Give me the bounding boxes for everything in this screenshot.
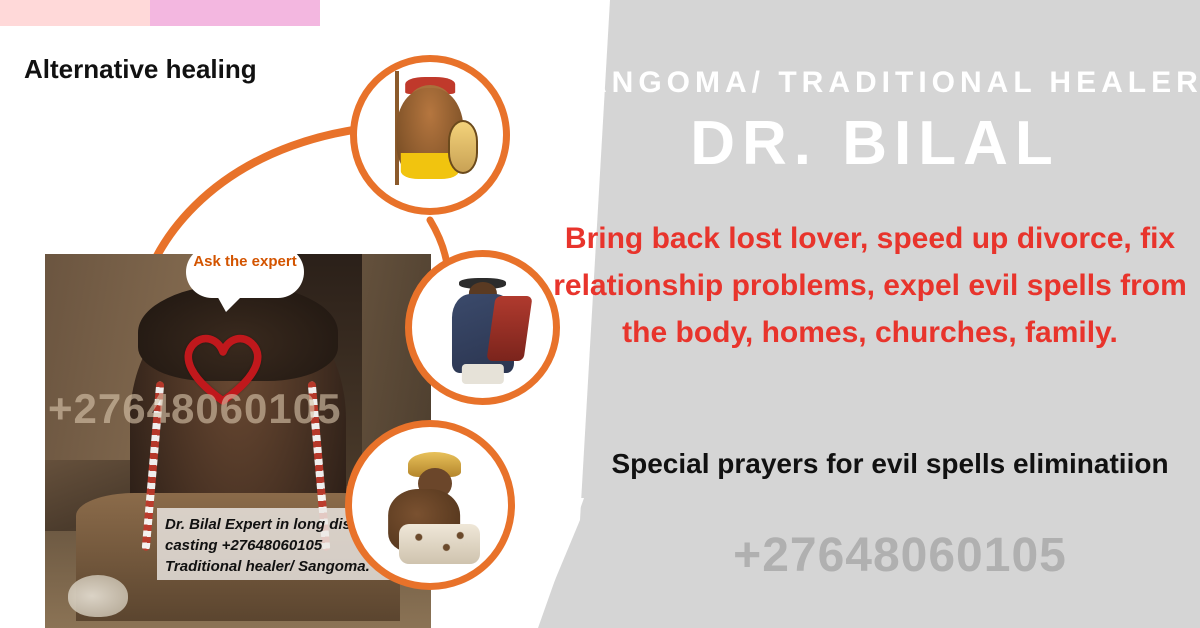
contact-phone: +27648060105 bbox=[600, 528, 1200, 583]
services-text: Bring back lost lover, speed up divorce,… bbox=[540, 215, 1200, 356]
speech-bubble-text: Ask the expert bbox=[186, 252, 304, 271]
photo-chicken bbox=[68, 575, 128, 617]
bubble-traditional-figure-illustration bbox=[405, 250, 560, 405]
top-bar-segment-pink-light bbox=[0, 0, 150, 26]
bubble-zulu-warrior-illustration bbox=[350, 55, 510, 215]
poster-title: DR. BILAL bbox=[560, 108, 1190, 179]
speech-bubble: Ask the expert bbox=[186, 246, 304, 298]
traditional-legs bbox=[461, 364, 503, 384]
poster-subtitle: SANGOMA/ TRADITIONAL HEALER bbox=[560, 66, 1190, 100]
alternative-healing-heading: Alternative healing bbox=[24, 54, 257, 85]
shield-icon bbox=[448, 120, 478, 174]
bubble-sangoma-illustration bbox=[345, 420, 515, 590]
top-bar-segment-white bbox=[320, 0, 500, 26]
special-prayers-text: Special prayers for evil spells eliminat… bbox=[600, 443, 1180, 485]
sangoma-pattern bbox=[405, 527, 474, 561]
watermark-phone: +27648060105 bbox=[48, 385, 438, 433]
poster-canvas: Ask the expert +27648060105 Dr. Bilal Ex… bbox=[0, 0, 1200, 628]
traditional-cape bbox=[486, 296, 532, 361]
top-bar-segment-pink bbox=[150, 0, 320, 26]
